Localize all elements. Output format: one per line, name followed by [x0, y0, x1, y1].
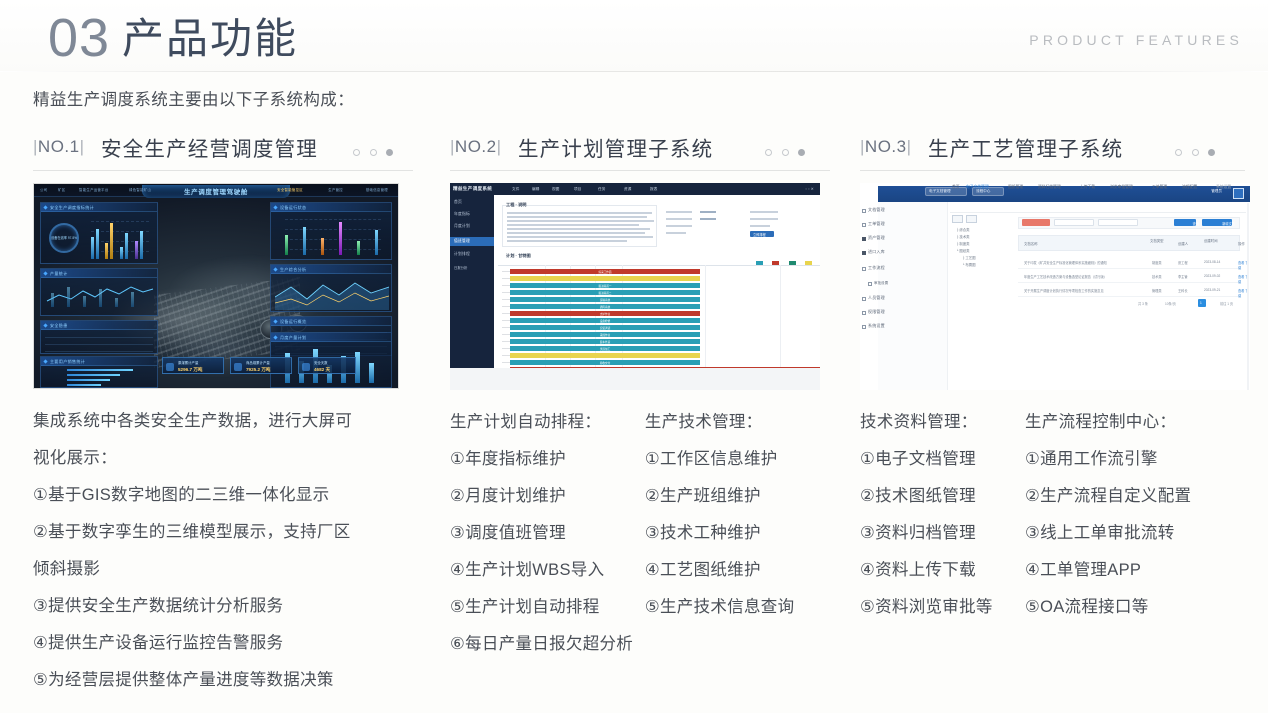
feature-lists-2: 生产计划自动排程： ①年度指标维护 ②月度计划维护 ③调度值班管理 ④生产计划W… — [450, 404, 830, 663]
gantt-bar[interactable]: 验收交付 — [510, 360, 700, 365]
gantt-bar-label: 掘进巷道一 — [599, 284, 612, 288]
collapse-button[interactable] — [966, 215, 977, 223]
menu-item[interactable]: 资源 — [624, 187, 632, 192]
content-tab[interactable]: 图纸管理 — [1008, 185, 1023, 190]
menu-item[interactable]: 项目 — [574, 187, 582, 192]
panel-title: 产量统计 — [50, 271, 68, 277]
card-number-2: |NO.2| — [450, 137, 502, 157]
gantt-bar[interactable]: 洗选加工 — [510, 346, 700, 351]
cell-type: 制度类 — [1152, 260, 1162, 265]
feature-card-1: |NO.1| 安全生产经营调度管理 生产调度管理驾驶舱 公司 矿区 智能生产运营… — [33, 132, 413, 699]
sidebar-item[interactable]: 工单管理 — [868, 221, 885, 227]
sidebar-item[interactable]: 进口入库 — [868, 249, 885, 255]
card-header-1: |NO.1| 安全生产经营调度管理 — [33, 132, 413, 168]
feature-line: ③技术工种维护 — [645, 515, 830, 552]
gantt-bar-label: 通风系统 — [600, 305, 610, 309]
cell-user: 张工程 — [1178, 260, 1188, 265]
window-controls[interactable]: ▫ ▫ ✕ — [805, 187, 814, 191]
card-header-divider — [860, 170, 1245, 171]
feature-line: ④提供生产设备运行监控告警服务 — [33, 625, 413, 662]
production-plan-gantt-screenshot: 精益生产调度系统 文件 编辑 视图 项目 任务 资源 报表 ▫ ▫ ✕ 首页 年… — [450, 183, 820, 390]
date-input[interactable] — [1098, 219, 1138, 226]
cell-time: 2023-09-21 — [1204, 288, 1220, 292]
filter-chip[interactable] — [1022, 219, 1050, 226]
dot-indicator-active — [1208, 149, 1215, 156]
gantt-bar-label: 运输系统 — [600, 298, 610, 302]
gantt-bar[interactable]: 采煤作业 — [510, 332, 700, 337]
group-heading: 生产计划自动排程： — [450, 404, 645, 441]
content-tab[interactable]: 上传下载 — [1080, 185, 1095, 190]
cell-type: 管理类 — [1152, 288, 1162, 293]
dot-indicator — [1192, 149, 1199, 156]
feature-line: ⑤生产技术信息查询 — [645, 589, 830, 626]
feature-line: ⑤OA流程接口等 — [1025, 589, 1245, 626]
section-number: 03 — [48, 8, 110, 68]
feature-line: ②月度计划维护 — [450, 478, 645, 515]
panel-title: 主要用户销售统计 — [50, 359, 85, 365]
gantt-bar[interactable] — [510, 353, 700, 358]
card-header-3: |NO.3| 生产工艺管理子系统 — [860, 132, 1245, 168]
kpi-label: 安全天数 — [314, 360, 328, 365]
gantt-bar[interactable]: 掘进巷道一 — [510, 283, 700, 288]
card-header-divider — [450, 170, 830, 171]
page-title: 产品功能 — [122, 13, 298, 65]
panel-title: 设备运行状态 — [280, 205, 306, 211]
gantt-bar[interactable]: 综采工作面 — [510, 269, 700, 274]
dot-indicator — [1175, 149, 1182, 156]
nav-item[interactable]: 智能生产运营平台 — [79, 187, 109, 192]
feature-lists-3: 技术资料管理： ①电子文档管理 ②技术图纸管理 ③资料归档管理 ④资料上传下载 … — [860, 404, 1245, 626]
feature-line: ②生产流程自定义配置 — [1025, 478, 1245, 515]
header-divider — [0, 71, 1268, 72]
gantt-bar[interactable]: 掘进巷道二 — [510, 290, 700, 295]
dot-indicator — [765, 149, 772, 156]
feature-line: ②基于数字孪生的三维模型展示，支持厂区 — [33, 514, 413, 551]
feature-list-1: 集成系统中各类安全生产数据，进行大屏可 视化展示： ①基于GIS数字地图的二三维… — [33, 403, 413, 699]
card-header-divider — [33, 170, 413, 171]
column-header: 操作 — [1238, 241, 1245, 246]
app-name: 精益生产调度系统 — [453, 186, 492, 192]
feature-line: 集成系统中各类安全生产数据，进行大屏可 — [33, 403, 413, 440]
cell-name: 关于印发《矿井安全生产标准化管理体系实施细则》的通知 — [1024, 260, 1107, 265]
feature-line: ④生产计划WBS导入 — [450, 552, 645, 589]
gantt-bar-label: 采煤作业 — [600, 333, 610, 337]
nav-item[interactable]: 公司 — [40, 187, 47, 192]
cell-type: 技术类 — [1152, 274, 1162, 279]
feature-card-2: |NO.2| 生产计划管理子系统 精益生产调度系统 文件 编辑 视图 项目 任务… — [450, 132, 830, 663]
gantt-bar[interactable]: 支护作业 — [510, 311, 700, 316]
header-tab[interactable]: 电子文档管理 — [929, 189, 951, 194]
gantt-bar-label: 洗选加工 — [600, 347, 610, 351]
card-title-1: 安全生产经营调度管理 — [101, 132, 318, 162]
card-number-1: |NO.1| — [33, 137, 85, 157]
sidebar-item[interactable]: 日报分析 — [454, 265, 468, 270]
search-input[interactable] — [1054, 219, 1094, 226]
gantt-bar-label: 综采工作面 — [599, 270, 612, 274]
feature-line: 倾斜摄影 — [33, 551, 413, 588]
feature-group-tech: 生产技术管理： ①工作区信息维护 ②生产班组维护 ③技术工种维护 ④工艺图纸维护… — [645, 404, 830, 663]
menu-item[interactable]: 任务 — [598, 187, 606, 192]
expand-button[interactable] — [952, 215, 963, 223]
feature-line: ⑤为经营层提供整体产量进度等数据决策 — [33, 662, 413, 699]
feature-line: 视化展示： — [33, 440, 413, 477]
feature-group-flow: 生产流程控制中心： ①通用工作流引擎 ②生产流程自定义配置 ③线上工单审批流转 … — [1025, 404, 1245, 626]
feature-line: ⑤资料浏览审批等 — [860, 589, 1025, 626]
cell-user: 王科长 — [1178, 288, 1188, 293]
card-dots-3 — [1170, 144, 1215, 162]
gantt-bar[interactable]: 装车外运 — [510, 339, 700, 344]
section-subtitle-en: PRODUCT FEATURES — [1029, 32, 1243, 48]
feature-line: ③资料归档管理 — [860, 515, 1025, 552]
feature-line: ③调度值班管理 — [450, 515, 645, 552]
group-heading: 技术资料管理： — [860, 404, 1025, 441]
column-header: 创建人 — [1178, 241, 1188, 246]
menu-item[interactable]: 编辑 — [532, 187, 540, 192]
panel-title: 生产综合分析 — [280, 267, 306, 273]
card-title-2: 生产计划管理子系统 — [518, 132, 713, 162]
cell-user: 李主管 — [1178, 274, 1188, 279]
gantt-bar[interactable]: 设备检修 — [510, 318, 700, 323]
ring-label: 设备在线率 97.8% — [51, 235, 77, 240]
nav-item[interactable]: 安全智能管控区 — [277, 187, 303, 192]
card-title-3: 生产工艺管理子系统 — [928, 132, 1123, 162]
feature-line: ③线上工单审批流转 — [1025, 515, 1245, 552]
card-dots-2 — [760, 144, 805, 162]
cell-time: 2023-09-02 — [1204, 274, 1220, 278]
cell-time: 2023-08-14 — [1204, 260, 1220, 264]
gantt-title: 计划 · 甘特图 — [506, 253, 531, 259]
feature-line: ③提供安全生产数据统计分析服务 — [33, 588, 413, 625]
menu-item[interactable]: 文件 — [512, 187, 520, 192]
add-document-label: 新增文档 — [1222, 221, 1235, 226]
nav-item[interactable]: 绿色智能矿山 — [129, 187, 151, 192]
pagination-per-page[interactable]: 10条/页 — [1165, 301, 1176, 306]
save-icon[interactable] — [1233, 188, 1244, 199]
gantt-bar-label: 设备检修 — [600, 319, 610, 323]
feature-line: ①基于GIS数字地图的二三维一体化显示 — [33, 477, 413, 514]
column-header: 文档类型 — [1150, 238, 1164, 243]
dot-indicator — [782, 149, 789, 156]
content-tab[interactable]: 系统设置 — [1216, 185, 1231, 190]
sidebar-item[interactable]: 系统设置 — [868, 323, 885, 329]
search-button-label: 查询 — [1193, 221, 1199, 226]
feature-card-3: |NO.3| 生产工艺管理子系统 电子文档管理 流程中心 管理员 文档管理 工单… — [860, 132, 1245, 626]
nav-item[interactable]: 生产管控 — [328, 187, 343, 192]
sidebar-item[interactable]: 权限管理 — [868, 309, 885, 315]
menu-item[interactable]: 视图 — [552, 187, 560, 192]
sidebar-item[interactable]: 首页 — [454, 200, 462, 205]
feature-line: ⑤生产计划自动排程 — [450, 589, 645, 626]
feature-line: ④工艺图纸维护 — [645, 552, 830, 589]
feature-line: ④资料上传下载 — [860, 552, 1025, 589]
gantt-bar[interactable]: 通风系统 — [510, 304, 700, 309]
kpi-label: 原煤累计产量 — [178, 360, 198, 365]
card-dots-1 — [348, 144, 393, 162]
schedule-button[interactable]: 立即排程 — [750, 231, 774, 237]
sidebar-item-active[interactable]: 值班管理 — [454, 239, 470, 244]
kpi-value: 7925.2 万吨 — [246, 367, 271, 373]
safety-production-dashboard-screenshot: 生产调度管理驾驶舱 公司 矿区 智能生产运营平台 绿色智能矿山 安全智能管控区 … — [33, 183, 399, 389]
kpi-value: 5296.7 万吨 — [178, 367, 203, 373]
content-tab[interactable]: 浏览审批管理 — [1110, 185, 1133, 190]
gantt-bar-label: 支护作业 — [600, 312, 610, 316]
sidebar-item[interactable]: 工作流程 — [868, 265, 885, 271]
process-management-document-screenshot: 电子文档管理 流程中心 管理员 文档管理 工单管理 资产管理 进口入库 工作流程… — [860, 183, 1250, 390]
group-heading: 生产技术管理： — [645, 404, 830, 441]
sidebar-item[interactable]: 月度计划 — [454, 224, 470, 229]
dot-indicator — [370, 149, 377, 156]
gantt-bar-label: 掘进巷道二 — [599, 291, 612, 295]
dot-indicator — [353, 149, 360, 156]
kpi-value: 4682 天 — [314, 367, 330, 373]
schedule-button-label: 立即排程 — [753, 232, 766, 237]
pagination-current-label: 1 — [1200, 301, 1202, 305]
feature-line: ②生产班组维护 — [645, 478, 830, 515]
cell-name: 关于开展生产调度计划执行情况专项检查工作的实施意见 — [1024, 288, 1104, 293]
gantt-bar[interactable] — [510, 276, 700, 281]
feature-line: ④工单管理APP — [1025, 552, 1245, 589]
feature-group-plan: 生产计划自动排程： ①年度指标维护 ②月度计划维护 ③调度值班管理 ④生产计划W… — [450, 404, 645, 663]
column-header: 创建时间 — [1204, 238, 1218, 243]
sidebar-item[interactable]: 人员管理 — [868, 295, 885, 301]
feature-line: ①电子文档管理 — [860, 441, 1025, 478]
sidebar-item[interactable]: 计划排程 — [454, 252, 470, 257]
nav-item[interactable]: 基础信息管理 — [366, 187, 388, 192]
nav-item[interactable]: 矿区 — [58, 187, 65, 192]
gantt-legend — [751, 252, 812, 270]
content-tab[interactable]: 首页 — [952, 185, 960, 190]
cell-name: 年度生产工艺技术改造方案与设备选型论证报告（试行版） — [1024, 274, 1107, 279]
menu-item[interactable]: 报表 — [650, 187, 658, 192]
content-tab-active[interactable]: 电子文档管理 — [966, 185, 989, 190]
gantt-bar-label: 验收交付 — [600, 361, 610, 365]
sidebar-item[interactable]: 资产管理 — [868, 235, 885, 241]
dot-indicator-active — [798, 149, 805, 156]
dot-indicator-active — [386, 149, 393, 156]
sidebar-subitem[interactable]: 审批设置 — [874, 280, 888, 285]
card-title: 工程 · 说明 — [506, 202, 526, 208]
feature-line: ①通用工作流引擎 — [1025, 441, 1245, 478]
content-tab[interactable]: 流程配置 — [1182, 185, 1197, 190]
feature-line: ①工作区信息维护 — [645, 441, 830, 478]
column-header: 文档名称 — [1024, 241, 1038, 246]
feature-line: ⑥每日产量日报欠超分析 — [450, 626, 645, 663]
gantt-bar-label: 安装调试 — [600, 326, 610, 330]
gantt-bar[interactable]: 运输系统 — [510, 297, 700, 302]
pagination-total: 共 3 条 — [1138, 301, 1148, 306]
kpi-label: 商品煤累计产量 — [246, 360, 270, 365]
group-heading: 生产流程控制中心： — [1025, 404, 1245, 441]
content-tab[interactable]: 资料归档管理 — [1038, 185, 1061, 190]
card-number-3: |NO.3| — [860, 137, 912, 157]
panel-title: 安全生产调度指标统计 — [50, 205, 94, 211]
content-tab[interactable]: 工单管理 — [1152, 185, 1167, 190]
feature-line: ②技术图纸管理 — [860, 478, 1025, 515]
panel-title: 设备运行概览 — [280, 319, 306, 325]
feature-line: ①年度指标维护 — [450, 441, 645, 478]
page-header: 03 产品功能 PRODUCT FEATURES — [0, 0, 1268, 72]
sidebar-item[interactable]: 文档管理 — [868, 207, 885, 213]
intro-text: 精益生产调度系统主要由以下子系统构成： — [33, 86, 354, 110]
panel-title: 月度产量计划 — [280, 335, 306, 341]
gantt-bar-label: 装车外运 — [600, 340, 610, 344]
card-header-2: |NO.2| 生产计划管理子系统 — [450, 132, 830, 168]
feature-group-docs: 技术资料管理： ①电子文档管理 ②技术图纸管理 ③资料归档管理 ④资料上传下载 … — [860, 404, 1025, 626]
sidebar-item[interactable]: 年度指标 — [454, 212, 470, 217]
panel-title: 安全隐患 — [50, 323, 68, 329]
gantt-bar[interactable]: 安装调试 — [510, 325, 700, 330]
